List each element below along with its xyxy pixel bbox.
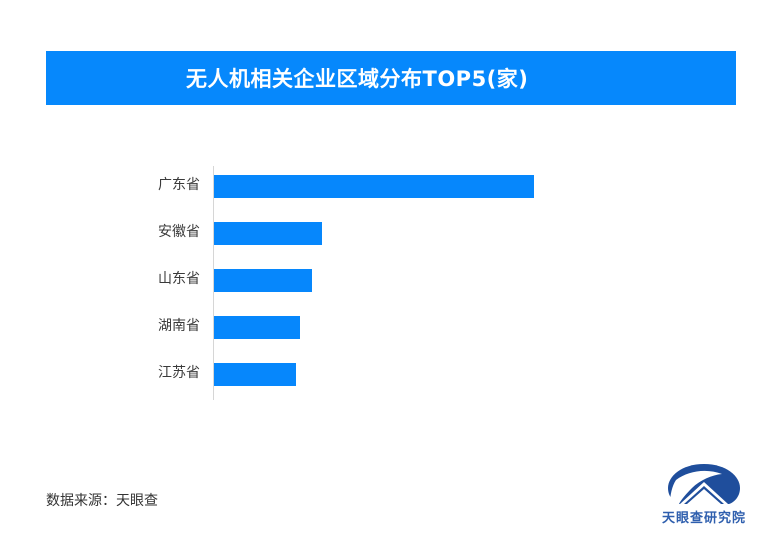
bar: [214, 175, 534, 198]
bar-category-label: 山东省: [100, 268, 200, 291]
tianyancha-eye-icon: [648, 462, 760, 506]
bar-category-label: 湖南省: [100, 315, 200, 338]
bar: [214, 316, 300, 339]
brand-logo-text: 天眼查研究院: [648, 507, 760, 526]
bar-category-label: 江苏省: [100, 362, 200, 385]
bar: [214, 269, 312, 292]
data-source-note: 数据来源：天眼查: [46, 490, 158, 510]
bar: [214, 363, 296, 386]
brand-logo: 天眼查研究院: [648, 462, 760, 530]
bar: [214, 222, 322, 245]
infographic-canvas: 无人机相关企业区域分布TOP5(家) 广东省安徽省山东省湖南省江苏省 数据来源：…: [0, 0, 783, 544]
bar-category-label: 广东省: [100, 174, 200, 197]
bar-category-label: 安徽省: [100, 221, 200, 244]
